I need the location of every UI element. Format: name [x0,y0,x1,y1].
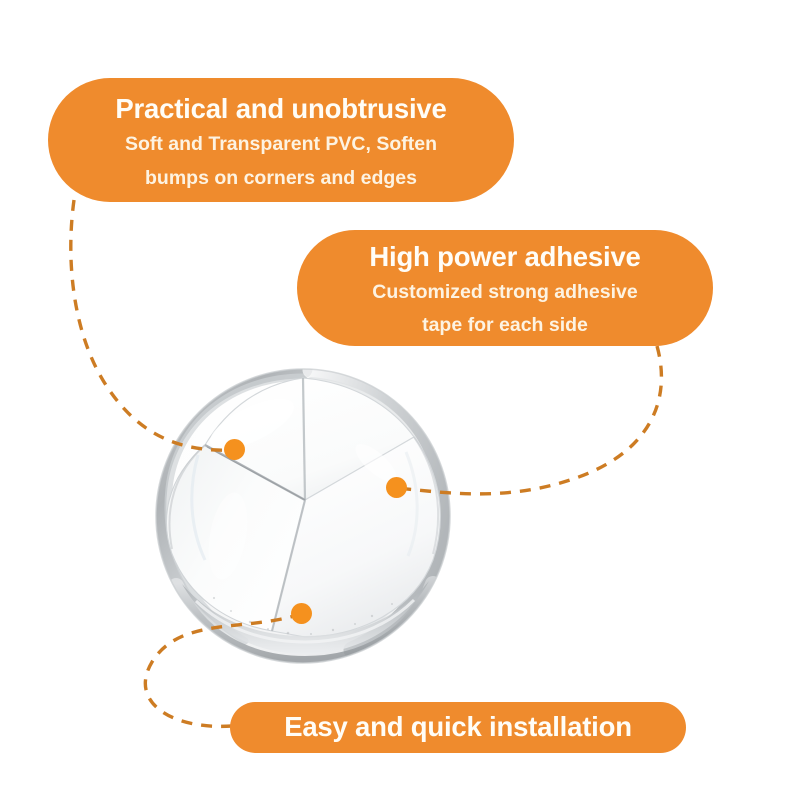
callout-practical-title: Practical and unobtrusive [115,95,446,124]
callout-adhesive-title: High power adhesive [369,243,640,272]
callout-adhesive: High power adhesive Customized strong ad… [297,230,713,346]
infographic-canvas: Practical and unobtrusive Soft and Trans… [0,0,800,800]
hotspot-dot-installation[interactable] [291,603,312,624]
callout-practical-subtitle-line-2: bumps on corners and edges [145,166,417,191]
callout-practical-subtitle-line-1: Soft and Transparent PVC, Soften [125,132,437,157]
connector-adhesive [396,346,661,494]
callout-adhesive-subtitle-line-1: Customized strong adhesive [372,280,637,305]
callout-installation-title: Easy and quick installation [284,713,632,742]
callout-installation: Easy and quick installation [230,702,686,753]
connector-practical [71,200,234,450]
callout-adhesive-subtitle-line-2: tape for each side [422,313,588,338]
callout-practical: Practical and unobtrusive Soft and Trans… [48,78,514,202]
hotspot-dot-practical[interactable] [224,439,245,460]
hotspot-dot-adhesive[interactable] [386,477,407,498]
